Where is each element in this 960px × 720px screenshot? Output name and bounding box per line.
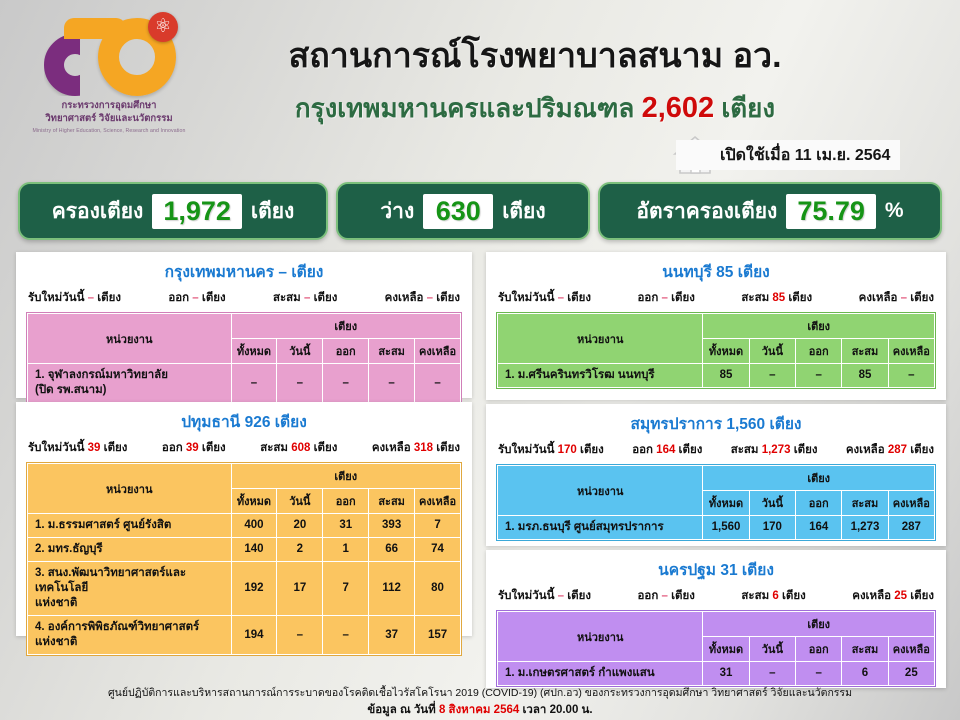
summary-new-today-unit: เตียง xyxy=(564,590,591,602)
col-header-cumulative: สะสม xyxy=(842,491,888,516)
col-header-remaining: คงเหลือ xyxy=(415,339,461,364)
cell-out: – xyxy=(796,364,842,388)
table-row: 4. องค์การพิพิธภัณฑ์วิทยาศาสตร์ แห่งชาติ… xyxy=(28,615,461,654)
panel-province-unit: เตียง xyxy=(738,264,770,281)
panel-province-name: สมุทรปราการ xyxy=(631,416,723,433)
panel-summary: รับใหม่วันนี้ 170 เตียงออก 164 เตียงสะสม… xyxy=(486,436,946,465)
panel-province-name: ปทุมธานี xyxy=(181,414,240,431)
summary-stats: ครองเตียง 1,972 เตียง ว่าง 630 เตียง อัต… xyxy=(0,182,960,244)
summary-new-today-label: รับใหม่วันนี้ xyxy=(28,292,88,304)
col-header-total: ทั้งหมด xyxy=(231,489,277,514)
stat-rate-unit: % xyxy=(885,199,904,223)
summary-cumulative-unit: เตียง xyxy=(779,590,806,602)
panel-province-unit: เตียง xyxy=(742,562,774,579)
beds-table: หน่วยงานเตียงทั้งหมดวันนี้ออกสะสมคงเหลือ… xyxy=(497,465,935,540)
cell-cumulative: 66 xyxy=(369,537,415,561)
cell-total: 31 xyxy=(703,662,749,686)
summary-cumulative-label: สะสม xyxy=(741,590,772,602)
col-header-remaining: คงเหลือ xyxy=(888,637,934,662)
col-header-today: วันนี้ xyxy=(749,339,795,364)
panel-province-unit: เตียง xyxy=(291,264,323,281)
stat-rate-label: อัตราครองเตียง xyxy=(636,195,777,228)
summary-remaining-unit: เตียง xyxy=(433,442,460,454)
col-header-org: หน่วยงาน xyxy=(498,612,703,662)
summary-new-today: รับใหม่วันนี้ – เตียง xyxy=(498,587,591,605)
logo-orange-bar-icon xyxy=(64,18,126,39)
summary-new-today: รับใหม่วันนี้ 39 เตียง xyxy=(28,439,127,457)
summary-remaining-label: คงเหลือ xyxy=(385,292,427,304)
col-header-out: ออก xyxy=(796,339,842,364)
province-panel-pathumthani: ปทุมธานี 926 เตียงรับใหม่วันนี้ 39 เตียง… xyxy=(16,402,472,636)
logo-caption-th-line1: กระทรวงการอุดมศึกษา xyxy=(24,100,194,113)
cell-cumulative: – xyxy=(369,364,415,403)
table-row: 1. มรภ.ธนบุรี ศูนย์สมุทรปราการ1,56017016… xyxy=(498,516,935,540)
table-row: 1. ม.เกษตรศาสตร์ กำแพงแสน31––625 xyxy=(498,662,935,686)
cell-remaining: – xyxy=(888,364,934,388)
cell-today: 2 xyxy=(277,537,323,561)
beds-table: หน่วยงานเตียงทั้งหมดวันนี้ออกสะสมคงเหลือ… xyxy=(27,313,461,403)
cell-today: 20 xyxy=(277,514,323,538)
stat-vacant-value: 630 xyxy=(423,194,493,229)
summary-new-today-unit: เตียง xyxy=(100,442,127,454)
summary-cumulative-value: 608 xyxy=(291,442,310,454)
col-header-out: ออก xyxy=(796,637,842,662)
summary-cumulative-unit: เตียง xyxy=(791,444,818,456)
footer-asof-prefix: ข้อมูล ณ วันที่ xyxy=(367,704,435,716)
col-header-today: วันนี้ xyxy=(277,489,323,514)
panel-summary: รับใหม่วันนี้ – เตียงออก – เตียงสะสม 85 … xyxy=(486,284,946,313)
summary-discharged: ออก 39 เตียง xyxy=(162,439,226,457)
cell-remaining: 80 xyxy=(415,561,461,615)
summary-discharged-label: ออก xyxy=(162,442,186,454)
table-row: 2. มทร.ธัญบุรี140216674 xyxy=(28,537,461,561)
province-panel-nakhonpathom: นครปฐม 31 เตียงรับใหม่วันนี้ – เตียงออก … xyxy=(486,550,946,688)
cell-org-name: 1. ม.ศรีนครินทรวิโรฒ นนทบุรี xyxy=(498,364,703,388)
table-header-row-1: หน่วยงานเตียง xyxy=(498,612,935,637)
summary-remaining: คงเหลือ 287 เตียง xyxy=(846,441,934,459)
cell-org-name: 1. ม.ธรรมศาสตร์ ศูนย์รังสิต xyxy=(28,514,232,538)
summary-discharged-label: ออก xyxy=(168,292,192,304)
logo-mark: ⚛ xyxy=(38,12,178,98)
col-header-org: หน่วยงาน xyxy=(28,464,232,514)
summary-cumulative-unit: เตียง xyxy=(310,442,337,454)
summary-remaining-value: 318 xyxy=(414,442,433,454)
summary-new-today-value: 170 xyxy=(558,444,577,456)
stat-occupied-unit: เตียง xyxy=(251,195,294,228)
cell-today: 170 xyxy=(749,516,795,540)
cell-today: – xyxy=(749,662,795,686)
cell-remaining: 7 xyxy=(415,514,461,538)
col-header-today: วันนี้ xyxy=(749,637,795,662)
province-panel-bangkok: กรุงเทพมหานคร – เตียงรับใหม่วันนี้ – เตี… xyxy=(16,252,472,398)
cell-total: 85 xyxy=(703,364,749,388)
table-header-row-1: หน่วยงานเตียง xyxy=(498,314,935,339)
cell-remaining: 25 xyxy=(888,662,934,686)
cell-remaining: – xyxy=(415,364,461,403)
col-header-cumulative: สะสม xyxy=(369,339,415,364)
cell-org-name: 3. สนง.พัฒนาวิทยาศาสตร์และเทคโนโลยี แห่ง… xyxy=(28,561,232,615)
cell-remaining: 287 xyxy=(888,516,934,540)
footer-asof-date: 8 สิงหาคม 2564 xyxy=(439,704,519,716)
col-header-out: ออก xyxy=(323,489,369,514)
panel-title: นครปฐม 31 เตียง xyxy=(486,550,946,582)
summary-discharged-value: 164 xyxy=(656,444,675,456)
summary-cumulative: สะสม – เตียง xyxy=(273,289,337,307)
summary-cumulative-label: สะสม xyxy=(741,292,772,304)
panel-title: ปทุมธานี 926 เตียง xyxy=(16,402,472,434)
summary-new-today-unit: เตียง xyxy=(94,292,121,304)
stat-vacant-unit: เตียง xyxy=(502,195,545,228)
summary-cumulative: สะสม 85 เตียง xyxy=(741,289,812,307)
col-header-total: ทั้งหมด xyxy=(703,637,749,662)
col-header-group-beds: เตียง xyxy=(231,314,460,339)
summary-discharged: ออก 164 เตียง xyxy=(632,441,702,459)
summary-discharged: ออก – เตียง xyxy=(168,289,225,307)
cell-out: – xyxy=(796,662,842,686)
summary-cumulative-value: 85 xyxy=(772,292,785,304)
table-header-row-1: หน่วยงานเตียง xyxy=(28,314,461,339)
summary-cumulative-label: สะสม xyxy=(260,442,291,454)
panel-province-beds: 85 xyxy=(712,264,738,281)
panel-province-name: นนทบุรี xyxy=(662,264,712,281)
summary-new-today-label: รับใหม่วันนี้ xyxy=(498,292,558,304)
col-header-cumulative: สะสม xyxy=(369,489,415,514)
cell-total: 194 xyxy=(231,615,277,654)
summary-discharged: ออก – เตียง xyxy=(638,289,695,307)
subtitle-total-beds: 2,602 xyxy=(642,92,715,124)
summary-new-today-unit: เตียง xyxy=(564,292,591,304)
summary-discharged-unit: เตียง xyxy=(199,442,226,454)
footer-data-asof-line: ข้อมูล ณ วันที่ 8 สิงหาคม 2564 เวลา 20.0… xyxy=(0,702,960,719)
summary-new-today: รับใหม่วันนี้ – เตียง xyxy=(28,289,121,307)
panel-summary: รับใหม่วันนี้ 39 เตียงออก 39 เตียงสะสม 6… xyxy=(16,434,472,463)
cell-total: 400 xyxy=(231,514,277,538)
summary-new-today: รับใหม่วันนี้ – เตียง xyxy=(498,289,591,307)
stat-occupied-beds: ครองเตียง 1,972 เตียง xyxy=(18,182,328,240)
cell-cumulative: 393 xyxy=(369,514,415,538)
cell-cumulative: 85 xyxy=(842,364,888,388)
summary-remaining-label: คงเหลือ xyxy=(852,590,894,602)
col-header-remaining: คงเหลือ xyxy=(888,491,934,516)
panel-province-beds: – xyxy=(274,264,291,281)
col-header-remaining: คงเหลือ xyxy=(888,339,934,364)
summary-cumulative-unit: เตียง xyxy=(310,292,337,304)
cell-total: – xyxy=(231,364,277,403)
stat-occupied-value: 1,972 xyxy=(152,194,242,229)
col-header-group-beds: เตียง xyxy=(703,314,935,339)
summary-remaining: คงเหลือ 318 เตียง xyxy=(372,439,460,457)
cell-out: 7 xyxy=(323,561,369,615)
summary-discharged-unit: เตียง xyxy=(199,292,226,304)
summary-cumulative-label: สะสม xyxy=(731,444,762,456)
summary-remaining-unit: เตียง xyxy=(907,590,934,602)
page-subtitle: กรุงเทพมหานครและปริมณฑล 2,602 เตียง xyxy=(215,88,855,129)
page-footer: ศูนย์ปฏิบัติการและบริหารสถานการณ์การระบา… xyxy=(0,686,960,719)
summary-discharged-unit: เตียง xyxy=(668,292,695,304)
summary-discharged-label: ออก xyxy=(638,590,662,602)
panel-province-unit: เตียง xyxy=(769,416,801,433)
summary-cumulative-label: สะสม xyxy=(273,292,304,304)
cell-out: 31 xyxy=(323,514,369,538)
page-header: ⚛ กระทรวงการอุดมศึกษา วิทยาศาสตร์ วิจัยแ… xyxy=(0,0,960,180)
summary-remaining: คงเหลือ 25 เตียง xyxy=(852,587,934,605)
col-header-org: หน่วยงาน xyxy=(28,314,232,364)
summary-new-today-label: รับใหม่วันนี้ xyxy=(498,444,558,456)
logo-purple-ring-icon xyxy=(44,34,106,96)
summary-remaining: คงเหลือ – เตียง xyxy=(385,289,460,307)
col-header-out: ออก xyxy=(323,339,369,364)
cell-cumulative: 112 xyxy=(369,561,415,615)
summary-remaining-value: 25 xyxy=(894,590,907,602)
stat-occupancy-rate: อัตราครองเตียง 75.79 % xyxy=(598,182,942,240)
summary-discharged: ออก – เตียง xyxy=(638,587,695,605)
summary-remaining-value: 287 xyxy=(888,444,907,456)
logo-caption-th-line2: วิทยาศาสตร์ วิจัยและนวัตกรรม xyxy=(24,113,194,126)
col-header-total: ทั้งหมด xyxy=(703,339,749,364)
cell-out: 164 xyxy=(796,516,842,540)
col-header-remaining: คงเหลือ xyxy=(415,489,461,514)
cell-cumulative: 1,273 xyxy=(842,516,888,540)
summary-discharged-value: 39 xyxy=(186,442,199,454)
col-header-today: วันนี้ xyxy=(277,339,323,364)
beds-table: หน่วยงานเตียงทั้งหมดวันนี้ออกสะสมคงเหลือ… xyxy=(27,463,461,655)
summary-discharged-label: ออก xyxy=(638,292,662,304)
summary-remaining-unit: เตียง xyxy=(433,292,460,304)
summary-cumulative: สะสม 608 เตียง xyxy=(260,439,337,457)
panel-summary: รับใหม่วันนี้ – เตียงออก – เตียงสะสม – เ… xyxy=(16,284,472,313)
open-since-badge: เปิดใช้เมื่อ 11 เม.ย. 2564 xyxy=(676,140,900,170)
cell-today: – xyxy=(277,364,323,403)
beds-table: หน่วยงานเตียงทั้งหมดวันนี้ออกสะสมคงเหลือ… xyxy=(497,611,935,686)
summary-remaining-label: คงเหลือ xyxy=(372,442,414,454)
panel-province-name: กรุงเทพมหานคร xyxy=(165,264,274,281)
province-panel-nonthaburi: นนทบุรี 85 เตียงรับใหม่วันนี้ – เตียงออก… xyxy=(486,252,946,400)
col-header-group-beds: เตียง xyxy=(231,464,460,489)
stat-vacant-label: ว่าง xyxy=(380,195,414,228)
table-row: 1. ม.ธรรมศาสตร์ ศูนย์รังสิต40020313937 xyxy=(28,514,461,538)
summary-cumulative-unit: เตียง xyxy=(785,292,812,304)
beds-table: หน่วยงานเตียงทั้งหมดวันนี้ออกสะสมคงเหลือ… xyxy=(497,313,935,388)
summary-remaining-label: คงเหลือ xyxy=(846,444,888,456)
summary-new-today-label: รับใหม่วันนี้ xyxy=(498,590,558,602)
cell-out: – xyxy=(323,364,369,403)
cell-remaining: 74 xyxy=(415,537,461,561)
summary-remaining-unit: เตียง xyxy=(907,444,934,456)
cell-cumulative: 37 xyxy=(369,615,415,654)
summary-remaining-unit: เตียง xyxy=(907,292,934,304)
col-header-total: ทั้งหมด xyxy=(231,339,277,364)
panel-title: กรุงเทพมหานคร – เตียง xyxy=(16,252,472,284)
subtitle-unit: เตียง xyxy=(721,93,775,123)
cell-out: 1 xyxy=(323,537,369,561)
summary-remaining: คงเหลือ – เตียง xyxy=(859,289,934,307)
cell-org-name: 2. มทร.ธัญบุรี xyxy=(28,537,232,561)
summary-cumulative-value: 1,273 xyxy=(762,444,791,456)
cell-org-name: 4. องค์การพิพิธภัณฑ์วิทยาศาสตร์ แห่งชาติ xyxy=(28,615,232,654)
table-row: 1. ม.ศรีนครินทรวิโรฒ นนทบุรี85––85– xyxy=(498,364,935,388)
panel-summary: รับใหม่วันนี้ – เตียงออก – เตียงสะสม 6 เ… xyxy=(486,582,946,611)
panel-title: สมุทรปราการ 1,560 เตียง xyxy=(486,404,946,436)
panel-province-unit: เตียง xyxy=(275,414,307,431)
province-panel-samutprakan: สมุทรปราการ 1,560 เตียงรับใหม่วันนี้ 170… xyxy=(486,404,946,546)
cell-today: 17 xyxy=(277,561,323,615)
cell-org-name: 1. จุฬาลงกรณ์มหาวิทยาลัย (ปิด รพ.สนาม) xyxy=(28,364,232,403)
cell-org-name: 1. ม.เกษตรศาสตร์ กำแพงแสน xyxy=(498,662,703,686)
footer-agency-line: ศูนย์ปฏิบัติการและบริหารสถานการณ์การระบา… xyxy=(0,686,960,702)
summary-new-today-value: 39 xyxy=(88,442,101,454)
cell-total: 140 xyxy=(231,537,277,561)
cell-total: 192 xyxy=(231,561,277,615)
summary-remaining-label: คงเหลือ xyxy=(859,292,901,304)
ministry-logo: ⚛ กระทรวงการอุดมศึกษา วิทยาศาสตร์ วิจัยแ… xyxy=(24,8,194,136)
footer-asof-suffix: เวลา 20.00 น. xyxy=(522,704,592,716)
col-header-out: ออก xyxy=(796,491,842,516)
cell-out: – xyxy=(323,615,369,654)
col-header-group-beds: เตียง xyxy=(703,612,935,637)
summary-new-today-unit: เตียง xyxy=(577,444,604,456)
col-header-org: หน่วยงาน xyxy=(498,466,703,516)
logo-caption-en: Ministry of Higher Education, Science, R… xyxy=(24,128,194,134)
col-header-cumulative: สะสม xyxy=(842,339,888,364)
stat-occupied-label: ครองเตียง xyxy=(52,195,144,228)
subtitle-region: กรุงเทพมหานครและปริมณฑล xyxy=(295,93,634,123)
summary-discharged-label: ออก xyxy=(632,444,656,456)
panel-province-beds: 31 xyxy=(716,562,742,579)
cell-today: – xyxy=(277,615,323,654)
col-header-org: หน่วยงาน xyxy=(498,314,703,364)
panel-province-beds: 926 xyxy=(240,414,274,431)
summary-discharged-unit: เตียง xyxy=(668,590,695,602)
summary-cumulative: สะสม 6 เตียง xyxy=(741,587,805,605)
col-header-today: วันนี้ xyxy=(749,491,795,516)
table-row: 1. จุฬาลงกรณ์มหาวิทยาลัย (ปิด รพ.สนาม)––… xyxy=(28,364,461,403)
summary-new-today: รับใหม่วันนี้ 170 เตียง xyxy=(498,441,604,459)
logo-caption-th: กระทรวงการอุดมศึกษา วิทยาศาสตร์ วิจัยและ… xyxy=(24,100,194,126)
atom-icon: ⚛ xyxy=(148,12,178,42)
stat-rate-value: 75.79 xyxy=(786,194,876,229)
col-header-group-beds: เตียง xyxy=(703,466,935,491)
summary-discharged-unit: เตียง xyxy=(675,444,702,456)
stat-vacant-beds: ว่าง 630 เตียง xyxy=(336,182,590,240)
cell-total: 1,560 xyxy=(703,516,749,540)
cell-org-name: 1. มรภ.ธนบุรี ศูนย์สมุทรปราการ xyxy=(498,516,703,540)
table-row: 3. สนง.พัฒนาวิทยาศาสตร์และเทคโนโลยี แห่ง… xyxy=(28,561,461,615)
cell-today: – xyxy=(749,364,795,388)
col-header-total: ทั้งหมด xyxy=(703,491,749,516)
cell-remaining: 157 xyxy=(415,615,461,654)
cell-cumulative: 6 xyxy=(842,662,888,686)
col-header-cumulative: สะสม xyxy=(842,637,888,662)
panel-province-name: นครปฐม xyxy=(658,562,716,579)
summary-new-today-label: รับใหม่วันนี้ xyxy=(28,442,88,454)
panel-province-beds: 1,560 xyxy=(722,416,769,433)
page-title: สถานการณ์โรงพยาบาลสนาม อว. xyxy=(215,28,855,82)
table-header-row-1: หน่วยงานเตียง xyxy=(28,464,461,489)
table-header-row-1: หน่วยงานเตียง xyxy=(498,466,935,491)
panel-title: นนทบุรี 85 เตียง xyxy=(486,252,946,284)
summary-cumulative: สะสม 1,273 เตียง xyxy=(731,441,818,459)
